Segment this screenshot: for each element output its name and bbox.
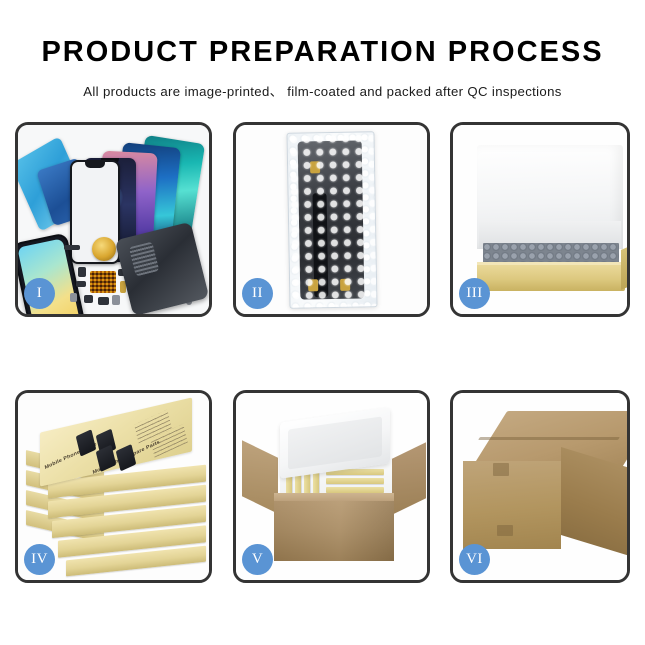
bubble-wrap-bag [286, 131, 377, 309]
carton-body [274, 501, 394, 561]
small-part [64, 245, 80, 250]
page-title: PRODUCT PREPARATION PROCESS [0, 38, 645, 67]
carton-seam-top [478, 437, 620, 440]
small-part [112, 295, 120, 305]
yellow-box-side [621, 244, 627, 290]
step-badge-6: VI [459, 544, 490, 575]
gold-coil-part-icon [92, 237, 116, 261]
phone-print-image [76, 429, 97, 456]
phone-print-image [116, 444, 137, 471]
gold-chip-part-icon [90, 271, 116, 293]
small-part [84, 295, 93, 303]
bubble-texture [287, 132, 376, 307]
yellow-box-item [326, 478, 384, 484]
step-badge-5: V [242, 544, 273, 575]
step-panel-6: VI [450, 390, 630, 583]
step-panel-3: III [450, 122, 630, 317]
product-preparation-process-infographic: PRODUCT PREPARATION PROCESS All products… [0, 0, 645, 645]
carton-tab-upper [493, 463, 509, 476]
step-panel-2: II [233, 122, 430, 317]
box-stack: Mobile Phone Spare Parts Mobile Phone Sp… [26, 411, 206, 571]
step-panel-4: Mobile Phone Spare Parts Mobile Phone Sp… [15, 390, 212, 583]
small-part [70, 293, 77, 302]
step-badge-1: I [24, 278, 55, 309]
small-part [78, 267, 86, 277]
header: PRODUCT PREPARATION PROCESS All products… [0, 0, 645, 98]
small-part [76, 281, 86, 287]
step-badge-4: IV [24, 544, 55, 575]
step-badge-3: III [459, 278, 490, 309]
page-subtitle: All products are image-printed、 film-coa… [0, 85, 645, 98]
step-badge-2: II [242, 278, 273, 309]
carton-tab-lower [497, 525, 513, 536]
step-panel-5: V [233, 390, 430, 583]
small-part [98, 297, 109, 305]
yellow-box-front [477, 265, 625, 291]
step-panel-1: I [15, 122, 212, 317]
